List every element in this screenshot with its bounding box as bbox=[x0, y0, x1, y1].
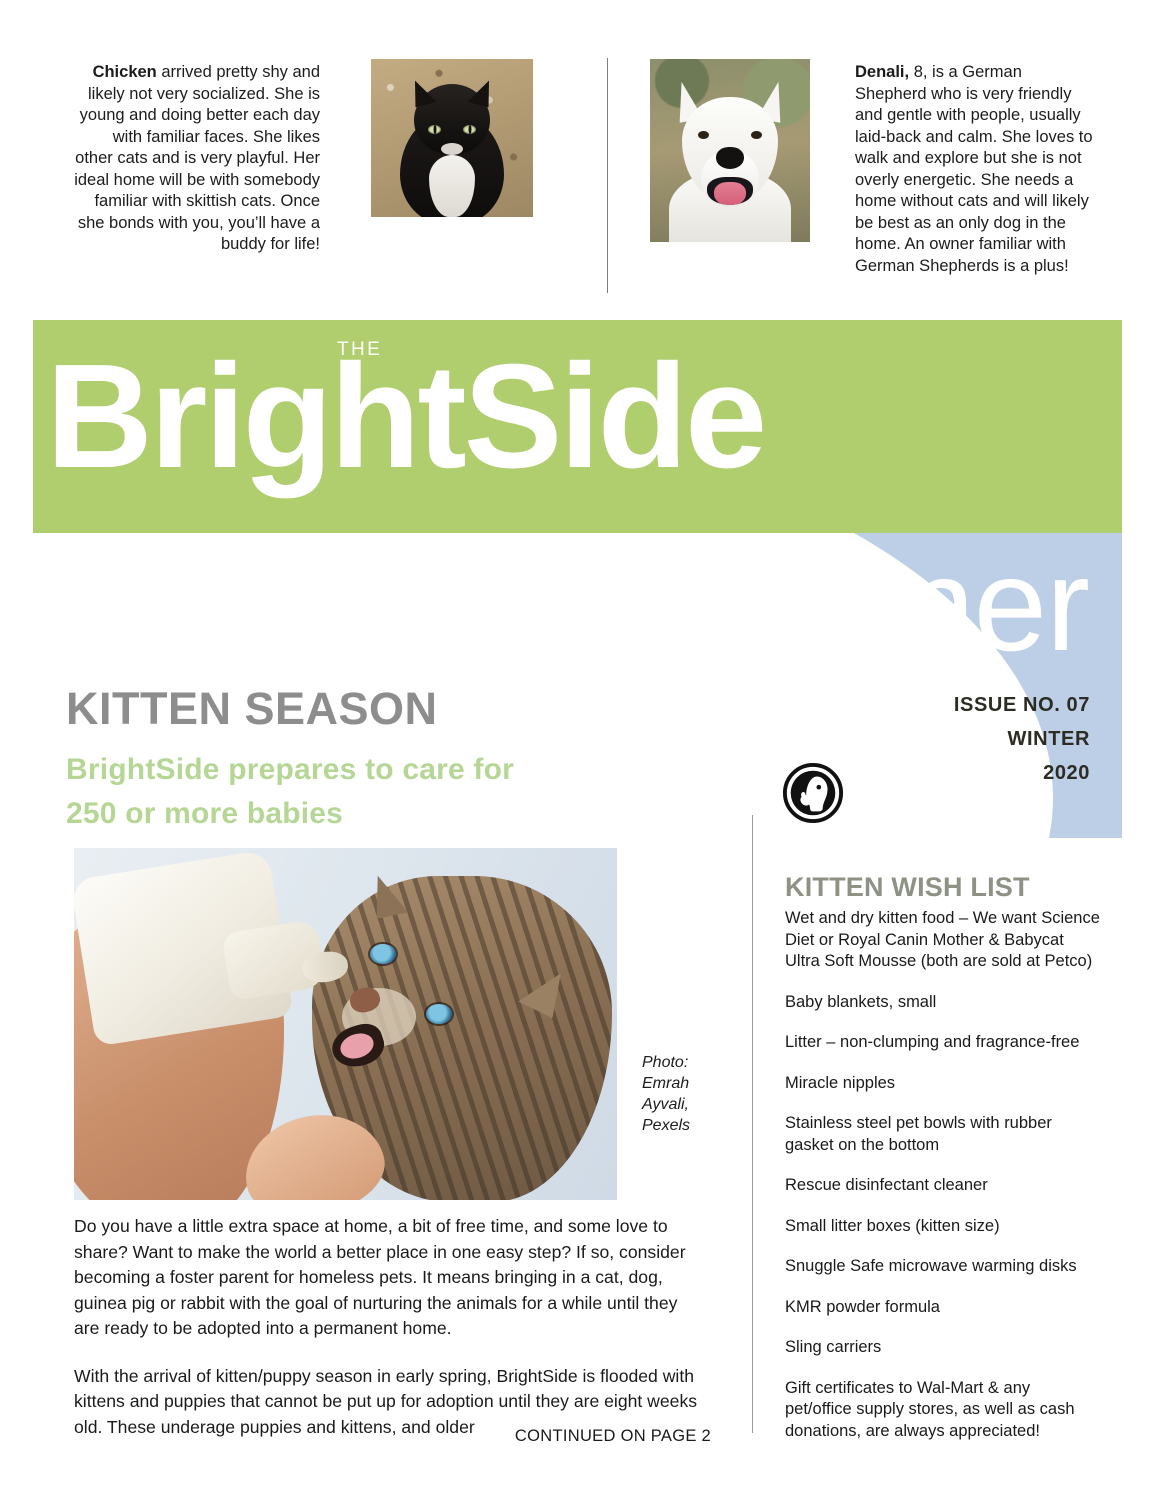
pet-blurb-denali: Denali, 8, is a German Shepherd who is v… bbox=[855, 62, 1095, 277]
masthead-the-label: THE bbox=[337, 339, 382, 361]
lead-story-deck: BrightSide prepares to care for 250 or m… bbox=[66, 748, 706, 836]
cat-left-eye-shape bbox=[428, 125, 441, 134]
photo-credit: Photo: Emrah Ayvali, Pexels bbox=[642, 1052, 712, 1136]
cat-right-eye-shape bbox=[463, 125, 476, 134]
wish-list-item: Rescue disinfectant cleaner bbox=[785, 1175, 1100, 1197]
dog-mouth-shape bbox=[707, 177, 753, 205]
article-body: Do you have a little extra space at home… bbox=[74, 1214, 704, 1462]
wish-list-item: Snuggle Safe microwave warming disks bbox=[785, 1256, 1100, 1278]
dog-nose-shape bbox=[716, 147, 744, 169]
pet-photo-denali bbox=[650, 59, 810, 242]
column-divider bbox=[752, 815, 753, 1433]
kitten-right-eye-shape bbox=[426, 1004, 452, 1024]
page-title: KITTEN SEASON bbox=[66, 684, 706, 734]
masthead-subtitle: Banner bbox=[33, 536, 1089, 674]
newsletter-page: Chicken arrived pretty shy and likely no… bbox=[0, 0, 1156, 1496]
wish-list-item: Baby blankets, small bbox=[785, 992, 1100, 1014]
wish-list-item: Miracle nipples bbox=[785, 1073, 1100, 1095]
wish-list-item: KMR powder formula bbox=[785, 1297, 1100, 1319]
wish-list-heading: KITTEN WISH LIST bbox=[785, 872, 1100, 902]
deck-line-2: 250 or more babies bbox=[66, 797, 343, 830]
pet-stories-divider bbox=[607, 58, 608, 293]
lead-story-headline: KITTEN SEASON BrightSide prepares to car… bbox=[66, 684, 706, 836]
wish-list-item: Sling carriers bbox=[785, 1337, 1100, 1359]
feature-photo-kitten-bottle-feeding bbox=[74, 848, 617, 1200]
deck-line-1: BrightSide prepares to care for bbox=[66, 753, 514, 786]
pet-description-denali: 8, is a German Shepherd who is very frie… bbox=[855, 63, 1093, 275]
wish-list-item: Stainless steel pet bowls with rubber ga… bbox=[785, 1113, 1100, 1156]
wish-list-item: Gift certificates to Wal-Mart & any pet/… bbox=[785, 1378, 1100, 1443]
pet-name-denali: Denali, bbox=[855, 63, 909, 81]
brightside-logo-icon bbox=[782, 762, 844, 824]
kitten-wish-list: KITTEN WISH LIST Wet and dry kitten food… bbox=[785, 872, 1100, 1442]
cat-chin-shape bbox=[441, 143, 463, 155]
pet-blurb-chicken: Chicken arrived pretty shy and likely no… bbox=[72, 62, 320, 256]
dog-tongue-shape bbox=[714, 182, 746, 205]
masthead-title: BrightSide bbox=[46, 337, 1106, 497]
wish-list-item: Litter – non-clumping and fragrance-free bbox=[785, 1032, 1100, 1054]
article-paragraph-1: Do you have a little extra space at home… bbox=[74, 1214, 704, 1342]
kitten-left-eye-shape bbox=[370, 944, 396, 964]
pet-name-chicken: Chicken bbox=[93, 63, 157, 81]
dog-right-eye-shape bbox=[751, 131, 762, 139]
continued-note: CONTINUED ON PAGE 2 bbox=[74, 1427, 711, 1446]
issue-number: ISSUE NO. 07 bbox=[800, 688, 1090, 722]
pet-description-chicken: arrived pretty shy and likely not very s… bbox=[74, 63, 320, 253]
wish-list-item: Small litter boxes (kitten size) bbox=[785, 1216, 1100, 1238]
wish-list-item: Wet and dry kitten food – We want Scienc… bbox=[785, 908, 1100, 973]
adoptable-pets-strip: Chicken arrived pretty shy and likely no… bbox=[0, 0, 1156, 312]
dog-left-eye-shape bbox=[698, 131, 709, 139]
pet-photo-chicken bbox=[371, 59, 533, 217]
issue-season: WINTER bbox=[800, 722, 1090, 756]
